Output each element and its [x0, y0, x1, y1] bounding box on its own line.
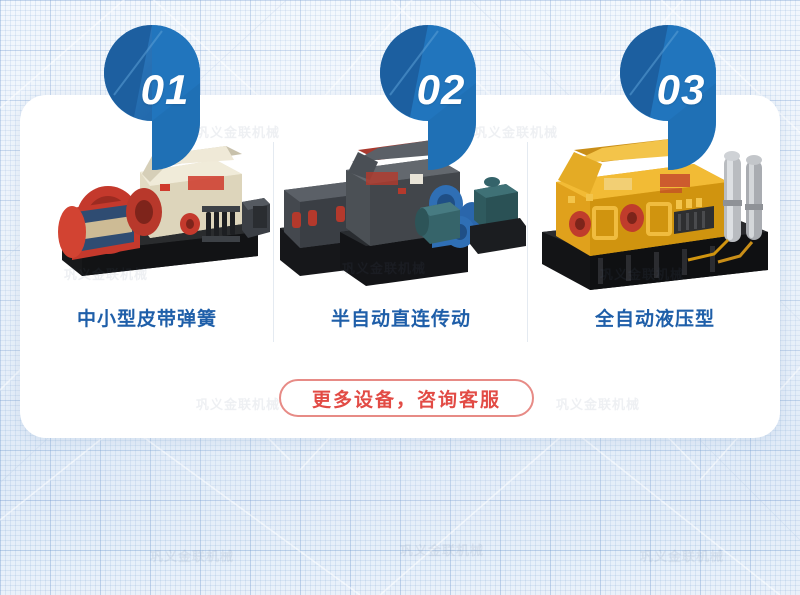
badge-03-number: 03	[620, 25, 716, 137]
badge-01-number: 01	[104, 25, 200, 137]
product-divider-2	[527, 142, 528, 342]
badge-02-number: 02	[380, 25, 476, 137]
more-equipment-cta-button[interactable]: 更多设备，咨询客服	[279, 379, 534, 417]
promo-page: 中小型皮带弹簧	[0, 0, 800, 595]
badge-03: 03	[620, 25, 716, 170]
badge-02: 02	[380, 25, 476, 170]
footer: 金联机械 选择不同类型的对辊破碎机功能不同 联系我们为您量身定做更适合您的制砂设…	[0, 438, 800, 595]
product-caption-1: 中小型皮带弹簧	[77, 304, 217, 331]
more-equipment-cta-label: 更多设备，咨询客服	[312, 385, 501, 412]
badge-01: 01	[104, 25, 200, 170]
product-caption-3: 全自动液压型	[595, 304, 715, 331]
product-divider-1	[273, 142, 274, 342]
product-caption-2: 半自动直连传动	[331, 304, 471, 331]
